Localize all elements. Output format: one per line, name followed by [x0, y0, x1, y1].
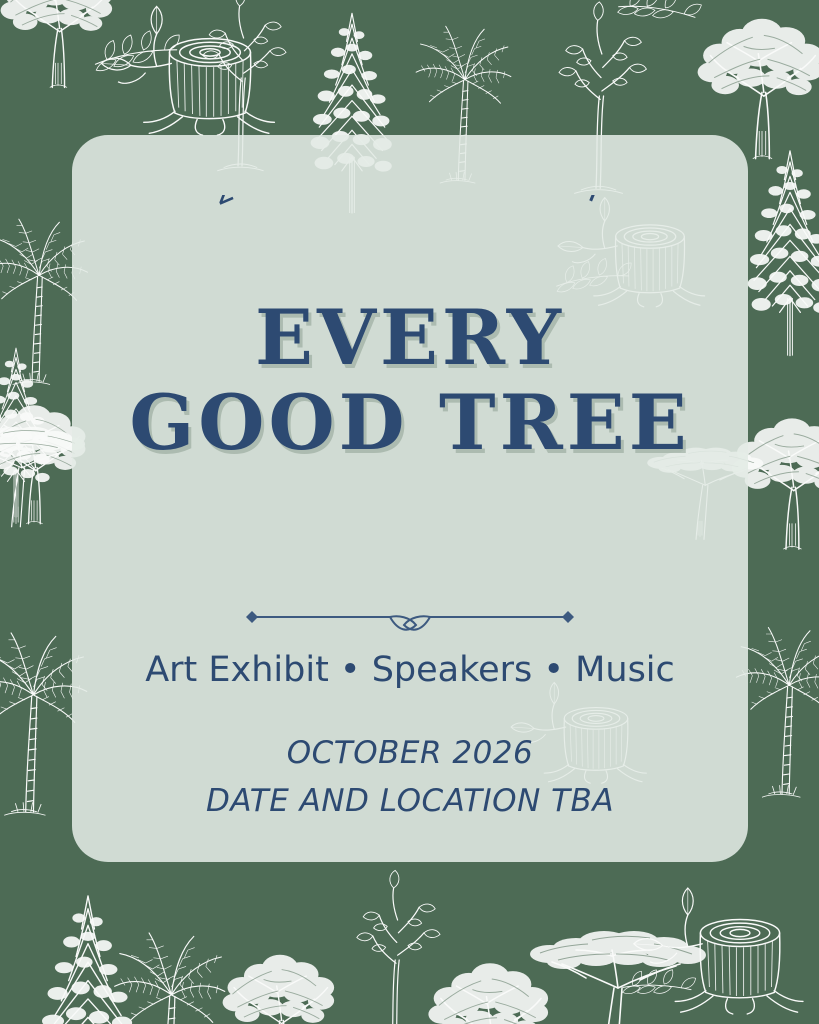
eyebrow-arc-text: 2026 FALL FORUM [90, 195, 730, 285]
subtitle-text: Art Exhibit • Speakers • Music [72, 650, 748, 690]
date-line-1: OCTOBER 2026 [72, 735, 748, 771]
leaf-flourish-divider [240, 605, 580, 635]
title-line-1: EVERY [72, 300, 748, 376]
title-line-2: GOOD TREE [72, 385, 748, 461]
content-card: 2026 FALL FORUM EVERY GOOD TREE Art Exhi… [72, 135, 748, 862]
poster-canvas: 2026 FALL FORUM EVERY GOOD TREE Art Exhi… [0, 0, 819, 1024]
eyebrow-text: 2026 FALL FORUM [207, 195, 612, 213]
date-line-2: DATE AND LOCATION TBA [72, 783, 748, 819]
